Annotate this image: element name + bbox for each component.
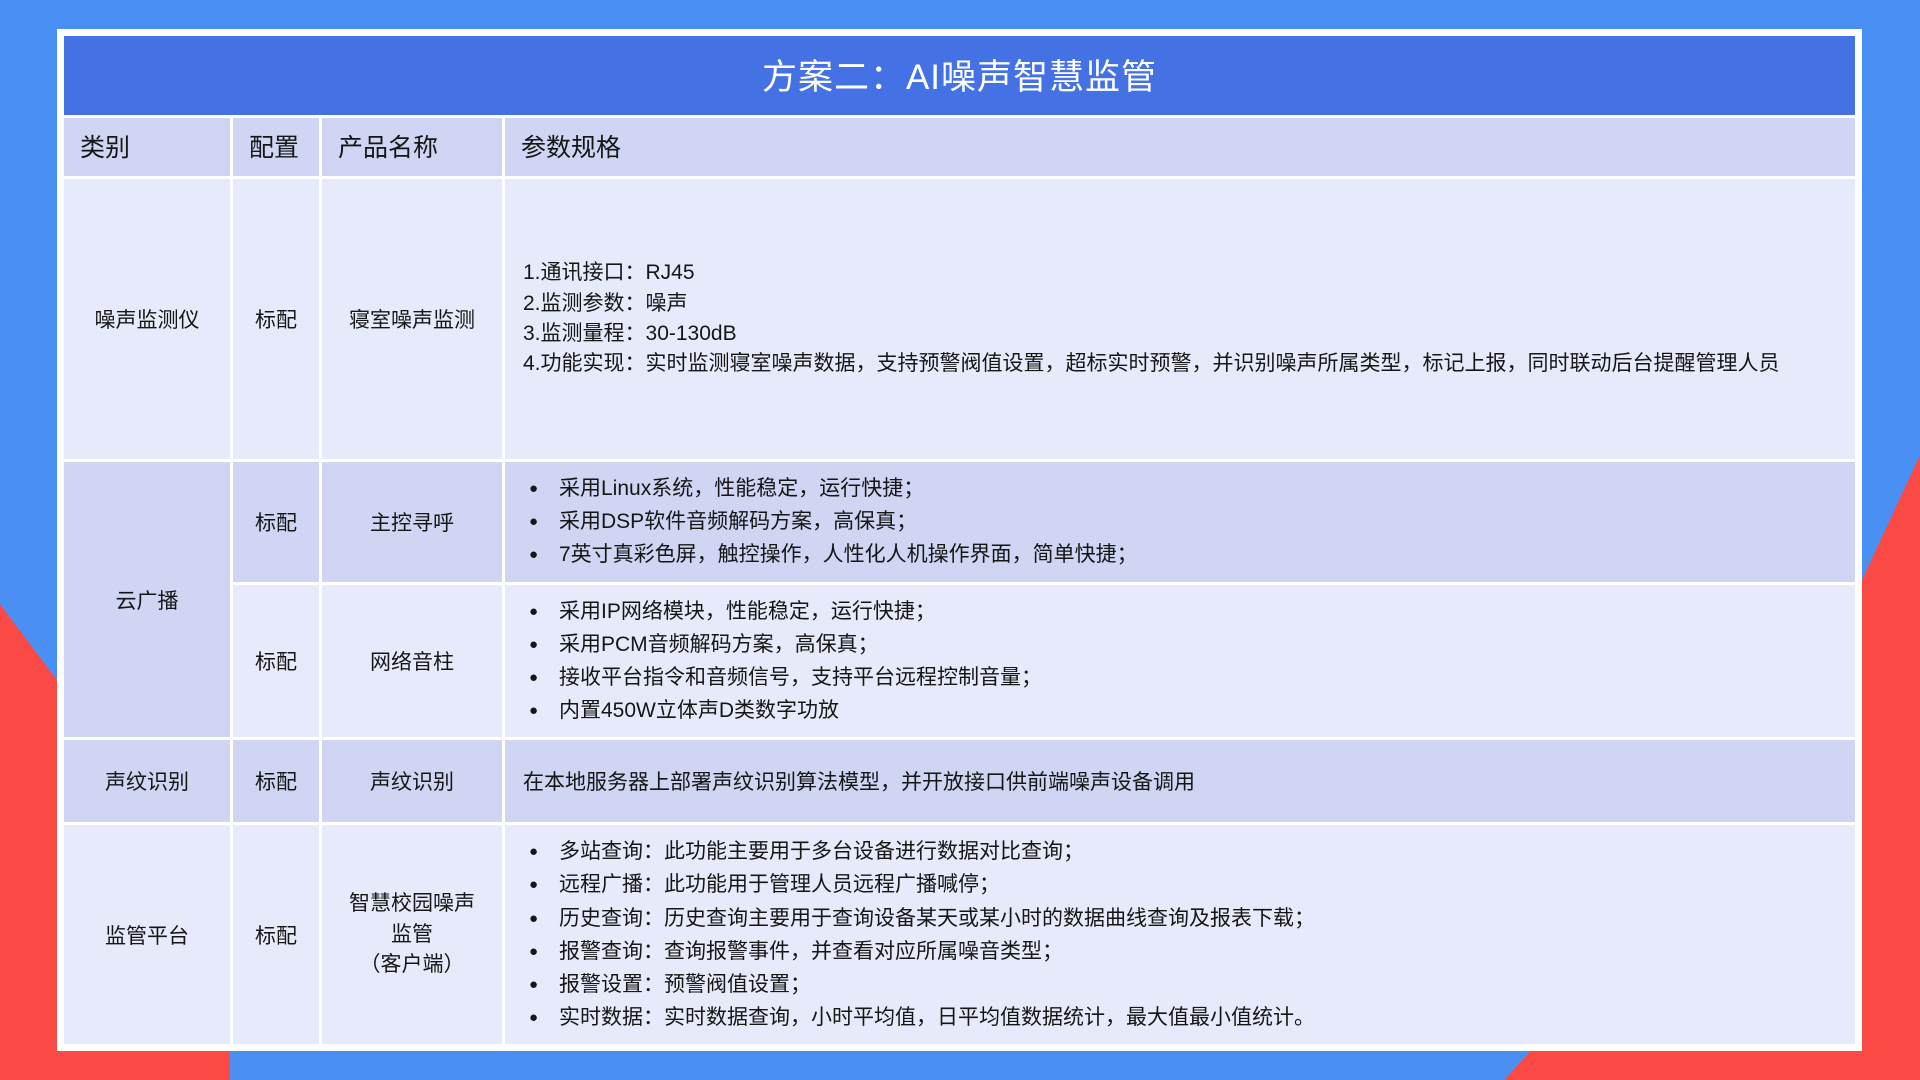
column-header-config: 配置 <box>233 118 319 176</box>
cell-category: 监管平台 <box>64 825 230 1044</box>
page-title: 方案二：AI噪声智慧监管 <box>64 36 1855 115</box>
spec-table-card: 方案二：AI噪声智慧监管 类别 配置 产品名称 参数规格 噪声监测仪 标配 寝室… <box>57 29 1862 1051</box>
cell-category: 声纹识别 <box>64 740 230 822</box>
cell-product: 声纹识别 <box>322 740 502 822</box>
spec-line: 1.通讯接口：RJ45 <box>523 258 1841 288</box>
cell-config: 标配 <box>233 740 319 822</box>
spec-line: 3.监测量程：30-130dB <box>523 319 1841 349</box>
cell-config: 标配 <box>233 585 319 738</box>
cell-product: 智慧校园噪声 监管 （客户端） <box>322 825 502 1044</box>
spec-bullet: 内置450W立体声D类数字功放 <box>523 694 1841 727</box>
table-row: 监管平台 标配 智慧校园噪声 监管 （客户端） 多站查询：此功能主要用于多台设备… <box>64 825 1855 1044</box>
spec-bullet: 历史查询：历史查询主要用于查询设备某天或某小时的数据曲线查询及报表下载； <box>523 902 1841 935</box>
cell-config: 标配 <box>233 825 319 1044</box>
spec-bullet: 远程广播：此功能用于管理人员远程广播喊停； <box>523 868 1841 901</box>
spec-bullet-list: 采用IP网络模块，性能稳定，运行快捷； 采用PCM音频解码方案，高保真； 接收平… <box>523 595 1841 728</box>
specification-table: 方案二：AI噪声智慧监管 类别 配置 产品名称 参数规格 噪声监测仪 标配 寝室… <box>61 33 1858 1047</box>
cell-product: 主控寻呼 <box>322 462 502 582</box>
table-title-row: 方案二：AI噪声智慧监管 <box>64 36 1855 115</box>
spec-bullet: 报警查询：查询报警事件，并查看对应所属噪音类型； <box>523 935 1841 968</box>
table-header-row: 类别 配置 产品名称 参数规格 <box>64 118 1855 176</box>
spec-bullet: 采用IP网络模块，性能稳定，运行快捷； <box>523 595 1841 628</box>
spec-bullet: 采用PCM音频解码方案，高保真； <box>523 628 1841 661</box>
spec-bullet: 7英寸真彩色屏，触控操作，人性化人机操作界面，简单快捷； <box>523 538 1841 571</box>
spec-bullet-list: 采用Linux系统，性能稳定，运行快捷； 采用DSP软件音频解码方案，高保真； … <box>523 472 1841 572</box>
spec-bullet: 采用DSP软件音频解码方案，高保真； <box>523 505 1841 538</box>
cell-config: 标配 <box>233 179 319 459</box>
cell-category: 云广播 <box>64 462 230 737</box>
cell-spec: 1.通讯接口：RJ45 2.监测参数：噪声 3.监测量程：30-130dB 4.… <box>505 179 1855 459</box>
spec-bullet: 接收平台指令和音频信号，支持平台远程控制音量； <box>523 661 1841 694</box>
spec-bullet-list: 多站查询：此功能主要用于多台设备进行数据对比查询； 远程广播：此功能用于管理人员… <box>523 835 1841 1034</box>
table-row: 云广播 标配 主控寻呼 采用Linux系统，性能稳定，运行快捷； 采用DSP软件… <box>64 462 1855 582</box>
table-row: 标配 网络音柱 采用IP网络模块，性能稳定，运行快捷； 采用PCM音频解码方案，… <box>64 585 1855 738</box>
cell-spec: 多站查询：此功能主要用于多台设备进行数据对比查询； 远程广播：此功能用于管理人员… <box>505 825 1855 1044</box>
table-row: 噪声监测仪 标配 寝室噪声监测 1.通讯接口：RJ45 2.监测参数：噪声 3.… <box>64 179 1855 459</box>
cell-product: 网络音柱 <box>322 585 502 738</box>
cell-spec: 在本地服务器上部署声纹识别算法模型，并开放接口供前端噪声设备调用 <box>505 740 1855 822</box>
spec-line: 4.功能实现：实时监测寝室噪声数据，支持预警阀值设置，超标实时预警，并识别噪声所… <box>523 349 1841 379</box>
column-header-product: 产品名称 <box>322 118 502 176</box>
product-line: （客户端） <box>336 950 488 980</box>
spec-bullet: 实时数据：实时数据查询，小时平均值，日平均值数据统计，最大值最小值统计。 <box>523 1001 1841 1034</box>
spec-bullet: 报警设置：预警阀值设置； <box>523 968 1841 1001</box>
column-header-category: 类别 <box>64 118 230 176</box>
table-row: 声纹识别 标配 声纹识别 在本地服务器上部署声纹识别算法模型，并开放接口供前端噪… <box>64 740 1855 822</box>
table-body: 噪声监测仪 标配 寝室噪声监测 1.通讯接口：RJ45 2.监测参数：噪声 3.… <box>64 179 1855 1044</box>
cell-product: 寝室噪声监测 <box>322 179 502 459</box>
cell-config: 标配 <box>233 462 319 582</box>
spec-bullet: 多站查询：此功能主要用于多台设备进行数据对比查询； <box>523 835 1841 868</box>
product-line: 监管 <box>336 920 488 950</box>
cell-spec: 采用Linux系统，性能稳定，运行快捷； 采用DSP软件音频解码方案，高保真； … <box>505 462 1855 582</box>
spec-bullet: 采用Linux系统，性能稳定，运行快捷； <box>523 472 1841 505</box>
cell-category: 噪声监测仪 <box>64 179 230 459</box>
slide-canvas: 方案二：AI噪声智慧监管 类别 配置 产品名称 参数规格 噪声监测仪 标配 寝室… <box>0 0 1920 1080</box>
cell-spec: 采用IP网络模块，性能稳定，运行快捷； 采用PCM音频解码方案，高保真； 接收平… <box>505 585 1855 738</box>
product-line: 智慧校园噪声 <box>336 889 488 919</box>
spec-line: 2.监测参数：噪声 <box>523 289 1841 319</box>
column-header-spec: 参数规格 <box>505 118 1855 176</box>
